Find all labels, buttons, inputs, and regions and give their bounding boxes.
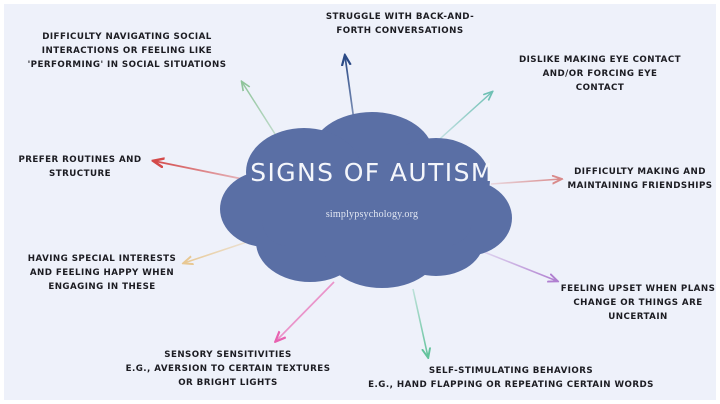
label-line: E.G., AVERSION TO CERTAIN TEXTURES [116,362,340,376]
label-line: 'PERFORMING' IN SOCIAL SITUATIONS [18,58,236,72]
label-line: CONTACT [496,81,704,95]
label-line: SELF-STIMULATING BEHAVIORS [352,364,670,378]
label-line: UNCERTAIN [560,310,716,324]
label-line: AND FEELING HAPPY WHEN [12,266,192,280]
label-line: DISLIKE MAKING EYE CONTACT [496,53,704,67]
label-self-stimulating-behaviors: SELF-STIMULATING BEHAVIORS E.G., HAND FL… [352,364,670,392]
label-line: STRUGGLE WITH BACK-AND- [304,10,496,24]
label-sensory-sensitivities: SENSORY SENSITIVITIES E.G., AVERSION TO … [116,348,340,390]
infographic-canvas: SIGNS OF AUTISM simplypsychology.org DIF… [0,0,720,404]
label-back-and-forth-conversations: STRUGGLE WITH BACK-AND- FORTH CONVERSATI… [304,10,496,38]
label-line: SENSORY SENSITIVITIES [116,348,340,362]
label-social-interactions: DIFFICULTY NAVIGATING SOCIAL INTERACTION… [18,30,236,72]
label-line: DIFFICULTY NAVIGATING SOCIAL [18,30,236,44]
label-line: INTERACTIONS OR FEELING LIKE [18,44,236,58]
label-routines-and-structure: PREFER ROUTINES AND STRUCTURE [12,153,148,181]
label-line: ENGAGING IN THESE [12,280,192,294]
label-line: AND/OR FORCING EYE [496,67,704,81]
label-line: CHANGE OR THINGS ARE [560,296,716,310]
label-line: OR BRIGHT LIGHTS [116,376,340,390]
label-plans-change: FEELING UPSET WHEN PLANS CHANGE OR THING… [560,282,716,324]
label-line: HAVING SPECIAL INTERESTS [12,252,192,266]
label-line: E.G., HAND FLAPPING OR REPEATING CERTAIN… [352,378,670,392]
label-line: MAINTAINING FRIENDSHIPS [564,179,716,193]
label-line: DIFFICULTY MAKING AND [564,165,716,179]
label-eye-contact: DISLIKE MAKING EYE CONTACT AND/OR FORCIN… [496,53,704,95]
label-line: FORTH CONVERSATIONS [304,24,496,38]
label-special-interests: HAVING SPECIAL INTERESTS AND FEELING HAP… [12,252,192,294]
label-friendships: DIFFICULTY MAKING AND MAINTAINING FRIEND… [564,165,716,193]
label-line: STRUCTURE [12,167,148,181]
label-line: FEELING UPSET WHEN PLANS [560,282,716,296]
label-line: PREFER ROUTINES AND [12,153,148,167]
